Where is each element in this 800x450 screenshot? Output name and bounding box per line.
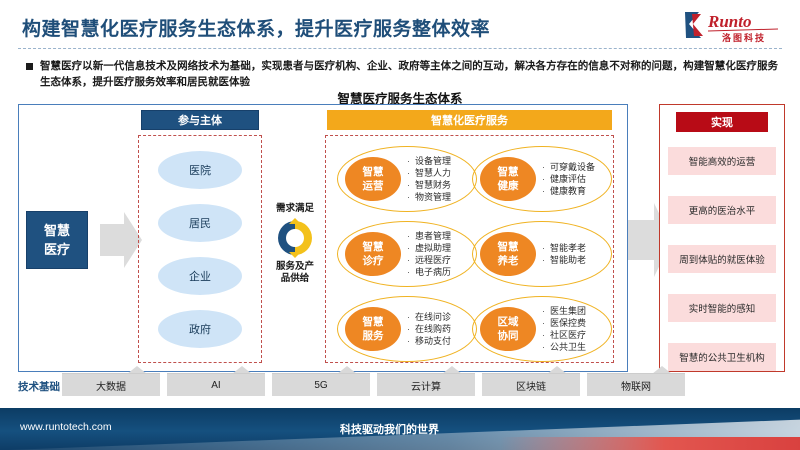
page-title: 构建智慧化医疗服务生态体系，提升医疗服务整体效率 (22, 14, 490, 41)
service-card-core: 智慧 服务 (345, 307, 401, 351)
service-item: ·公共卫生 (542, 341, 612, 353)
service-item: ·在线购药 (407, 323, 477, 335)
participant-item-residents[interactable]: 居民 (158, 204, 242, 242)
footer-website-url[interactable]: www.runtotech.com (20, 421, 112, 433)
footer-red-accent (500, 437, 800, 450)
realization-item-publichealth[interactable]: 智慧的公共卫生机构 (668, 343, 776, 371)
exchange-bottom-label: 服务及产 品供给 (264, 261, 326, 285)
service-card-items: ·设备管理 ·智慧人力 ·智慧财务 ·物资管理 (407, 155, 477, 203)
service-item: ·智能孝老 (542, 242, 612, 254)
flow-arrow-left-icon (100, 210, 142, 270)
svg-text:Runto: Runto (707, 12, 751, 31)
realization-item-experience[interactable]: 周到体贴的就医体验 (668, 245, 776, 273)
tech-item-bigdata[interactable]: 大数据 (62, 373, 160, 396)
service-item: ·远程医疗 (407, 254, 477, 266)
service-title-line1: 智慧 (498, 240, 519, 254)
service-item: ·医保控费 (542, 317, 612, 329)
realization-item-operations[interactable]: 智能高效的运营 (668, 147, 776, 175)
service-item: ·移动支付 (407, 335, 477, 347)
svg-text:洛图科技: 洛图科技 (722, 32, 766, 43)
service-item: ·设备管理 (407, 155, 477, 167)
runto-logo: Runto 洛图科技 (682, 8, 786, 44)
service-item: ·可穿戴设备 (542, 161, 612, 173)
service-item: ·虚拟助理 (407, 242, 477, 254)
service-item: ·智慧人力 (407, 167, 477, 179)
circular-exchange-icon (275, 218, 315, 258)
service-title-line1: 智慧 (498, 165, 519, 179)
exchange-top-label: 需求满足 (264, 203, 326, 215)
tech-item-iot[interactable]: 物联网 (587, 373, 685, 396)
tech-item-ai[interactable]: AI (167, 373, 265, 396)
core-concept-box: 智慧 医疗 (26, 211, 88, 269)
exchange-bottom-line2: 品供给 (264, 273, 326, 285)
tech-item-blockchain[interactable]: 区块链 (482, 373, 580, 396)
core-concept-line2: 医疗 (44, 240, 70, 259)
service-card-core: 区域 协同 (480, 307, 536, 351)
core-concept-line1: 智慧 (44, 221, 70, 240)
service-item: ·健康评估 (542, 173, 612, 185)
service-item: ·社区医疗 (542, 329, 612, 341)
service-card-items: ·智能孝老 ·智能助老 (542, 242, 612, 266)
service-card-items: ·医生集团 ·医保控费 ·社区医疗 ·公共卫生 (542, 305, 612, 353)
service-card-core: 智慧 诊疗 (345, 232, 401, 276)
tech-item-cloud[interactable]: 云计算 (377, 373, 475, 396)
realization-panel (659, 104, 785, 372)
runto-logo-icon: Runto 洛图科技 (682, 8, 786, 44)
participant-item-hospital[interactable]: 医院 (158, 151, 242, 189)
service-title-line2: 诊疗 (363, 254, 384, 268)
service-item: ·智能助老 (542, 254, 612, 266)
services-header: 智慧化医疗服务 (327, 110, 612, 130)
service-title-line1: 区域 (498, 315, 519, 329)
service-card-elderly[interactable]: 智慧 养老 ·智能孝老 ·智能助老 (472, 221, 612, 287)
service-card-operations[interactable]: 智慧 运营 ·设备管理 ·智慧人力 ·智慧财务 ·物资管理 (337, 146, 477, 212)
service-card-core: 智慧 健康 (480, 157, 536, 201)
service-title-line1: 智慧 (363, 165, 384, 179)
service-item: ·医生集团 (542, 305, 612, 317)
service-title-line1: 智慧 (363, 315, 384, 329)
participant-item-enterprise[interactable]: 企业 (158, 257, 242, 295)
bullet-square-icon (26, 63, 33, 70)
exchange-block: 需求满足 服务及产 品供给 (264, 203, 326, 285)
service-item: ·物资管理 (407, 191, 477, 203)
service-title-line1: 智慧 (363, 240, 384, 254)
service-title-line2: 服务 (363, 329, 384, 343)
service-card-regional[interactable]: 区域 协同 ·医生集团 ·医保控费 ·社区医疗 ·公共卫生 (472, 296, 612, 362)
service-card-diagnosis[interactable]: 智慧 诊疗 ·患者管理 ·虚拟助理 ·远程医疗 ·电子病历 (337, 221, 477, 287)
footer-bar: www.runtotech.com 科技驱动我们的世界 (0, 408, 800, 450)
summary-bullet: 智慧医疗以新一代信息技术及网络技术为基础，实现患者与医疗机构、企业、政府等主体之… (26, 58, 778, 90)
service-card-health[interactable]: 智慧 健康 ·可穿戴设备 ·健康评估 ·健康教育 (472, 146, 612, 212)
participants-header: 参与主体 (141, 110, 259, 130)
service-title-line2: 运营 (363, 179, 384, 193)
service-card-core: 智慧 运营 (345, 157, 401, 201)
exchange-bottom-line1: 服务及产 (264, 261, 326, 273)
footer-slogan: 科技驱动我们的世界 (340, 421, 439, 437)
service-item: ·电子病历 (407, 266, 477, 278)
service-item: ·健康教育 (542, 185, 612, 197)
summary-bullet-text: 智慧医疗以新一代信息技术及网络技术为基础，实现患者与医疗机构、企业、政府等主体之… (40, 58, 778, 90)
realization-item-sensing[interactable]: 实时智能的感知 (668, 294, 776, 322)
service-title-line2: 协同 (498, 329, 519, 343)
realization-item-treatment[interactable]: 更高的医治水平 (668, 196, 776, 224)
service-card-core: 智慧 养老 (480, 232, 536, 276)
service-item: ·患者管理 (407, 230, 477, 242)
service-card-service[interactable]: 智慧 服务 ·在线问诊 ·在线购药 ·移动支付 (337, 296, 477, 362)
participant-item-government[interactable]: 政府 (158, 310, 242, 348)
realization-header: 实现 (676, 112, 768, 132)
service-card-items: ·可穿戴设备 ·健康评估 ·健康教育 (542, 161, 612, 197)
service-item: ·在线问诊 (407, 311, 477, 323)
service-card-items: ·在线问诊 ·在线购药 ·移动支付 (407, 311, 477, 347)
tech-item-5g[interactable]: 5G (272, 373, 370, 396)
title-divider (18, 48, 782, 49)
service-card-items: ·患者管理 ·虚拟助理 ·远程医疗 ·电子病历 (407, 230, 477, 278)
service-title-line2: 养老 (498, 254, 519, 268)
service-title-line2: 健康 (498, 179, 519, 193)
service-item: ·智慧财务 (407, 179, 477, 191)
tech-foundation-label: 技术基础 (18, 379, 60, 394)
